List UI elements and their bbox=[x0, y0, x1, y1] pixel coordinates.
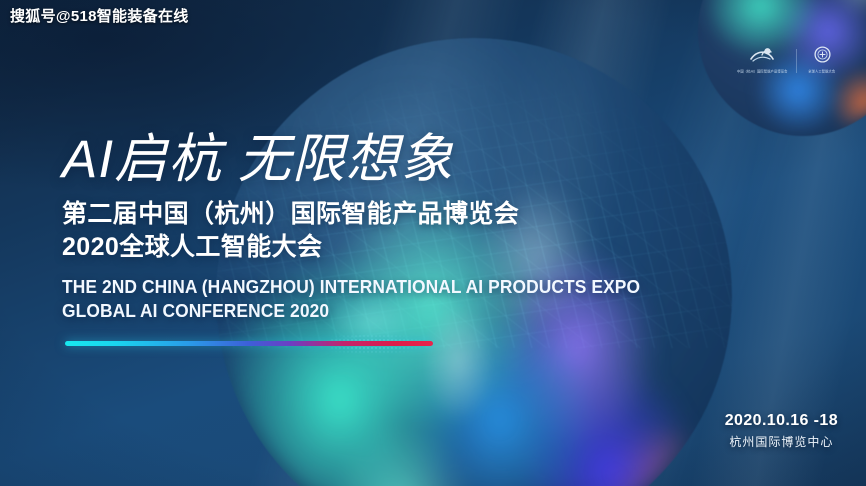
circular-emblem-logo-icon bbox=[814, 46, 831, 68]
poster-headline: AI启杭 无限想象 bbox=[62, 132, 677, 188]
date-venue-block: 2020.10.16 -18 杭州国际博览中心 bbox=[725, 412, 838, 450]
expo-logo: 中国（杭州）国际智能产品博览会 bbox=[742, 46, 782, 73]
conference-logo-caption: 全球人工智能大会 bbox=[809, 70, 836, 74]
watermark-text: 搜狐号@518智能装备在线 bbox=[10, 5, 189, 26]
event-date: 2020.10.16 -18 bbox=[725, 412, 838, 430]
poster-chinese-line-2: 2020全球人工智能大会 bbox=[62, 231, 677, 264]
logo-group: 中国（杭州）国际智能产品博览会 全球人工智能大会 bbox=[742, 46, 833, 73]
event-poster: 搜狐号@518智能装备在线 中国（杭州）国际智能产品博览会 bbox=[0, 0, 866, 486]
poster-english-line-2: GLOBAL AI CONFERENCE 2020 bbox=[62, 299, 640, 324]
expo-logo-caption: 中国（杭州）国际智能产品博览会 bbox=[737, 70, 788, 74]
logo-divider bbox=[796, 49, 797, 73]
conference-logo: 全球人工智能大会 bbox=[811, 46, 833, 73]
poster-chinese-line-1: 第二届中国（杭州）国际智能产品博览会 bbox=[62, 198, 677, 231]
accent-rule bbox=[65, 341, 433, 346]
hangzhou-wave-logo-icon bbox=[749, 46, 775, 68]
poster-english-line-1: THE 2ND CHINA (HANGZHOU) INTERNATIONAL A… bbox=[62, 275, 640, 300]
poster-copy-block: AI启杭 无限想象 第二届中国（杭州）国际智能产品博览会 2020全球人工智能大… bbox=[62, 132, 677, 324]
event-venue: 杭州国际博览中心 bbox=[725, 433, 838, 450]
